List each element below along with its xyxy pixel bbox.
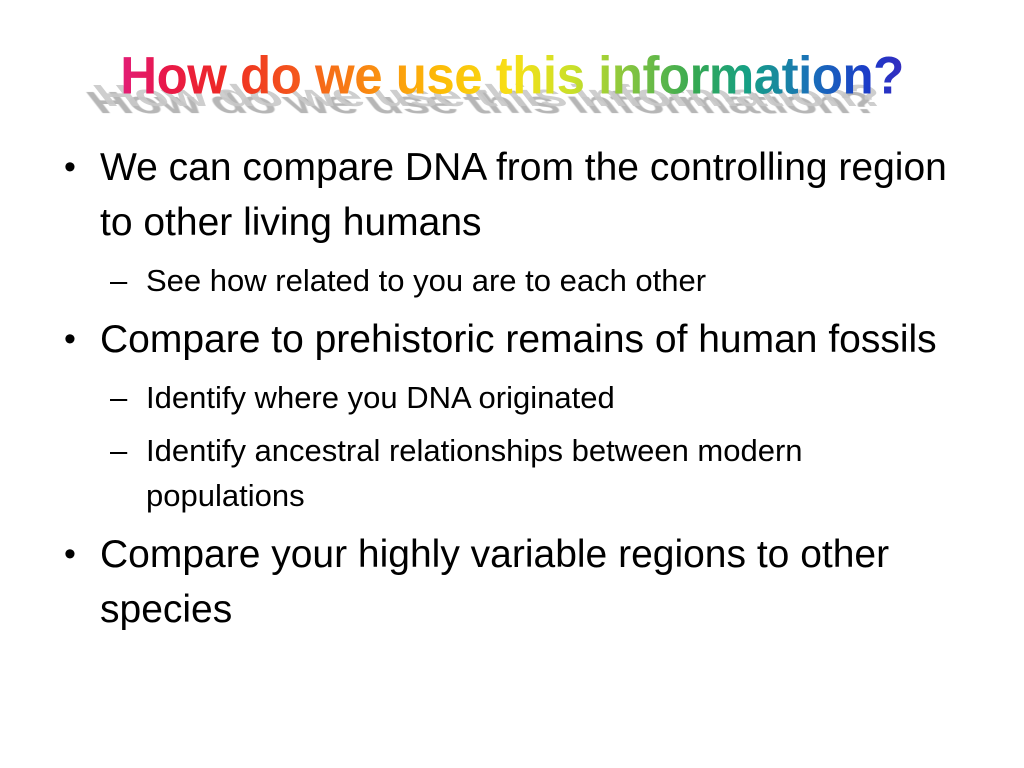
bullet-dash-icon: –	[110, 375, 140, 420]
list-item: – Identify where you DNA originated	[0, 375, 1024, 420]
list-item: – Identify ancestral relationships betwe…	[0, 428, 1024, 518]
list-item-label: See how related to you are to each other	[146, 263, 706, 298]
list-item: • Compare your highly variable regions t…	[0, 527, 1024, 637]
list-item: • We can compare DNA from the controllin…	[0, 140, 1024, 250]
bullet-dot-icon: •	[64, 527, 88, 582]
slide-body-placeholder[interactable]: • We can compare DNA from the controllin…	[0, 140, 1024, 740]
page-title: How do we use this information?	[0, 43, 1024, 110]
list-item-label: Identify where you DNA originated	[146, 380, 615, 415]
bullet-dash-icon: –	[110, 258, 140, 303]
bullet-dash-icon: –	[110, 428, 140, 473]
list-item: – See how related to you are to each oth…	[0, 258, 1024, 303]
list-item-label: We can compare DNA from the controlling …	[100, 146, 947, 244]
list-item-label: Compare your highly variable regions to …	[100, 533, 889, 631]
list-item-label: Compare to prehistoric remains of human …	[100, 318, 937, 361]
slide-canvas: How do we use this information? How do w…	[0, 0, 1024, 768]
bullet-dot-icon: •	[64, 140, 88, 195]
slide-title-placeholder[interactable]: How do we use this information? How do w…	[0, 44, 1024, 126]
wordart-title-stack: How do we use this information? How do w…	[0, 44, 1024, 126]
list-item-label: Identify ancestral relationships between…	[146, 433, 803, 513]
bullet-dot-icon: •	[64, 312, 88, 367]
list-item: • Compare to prehistoric remains of huma…	[0, 312, 1024, 367]
